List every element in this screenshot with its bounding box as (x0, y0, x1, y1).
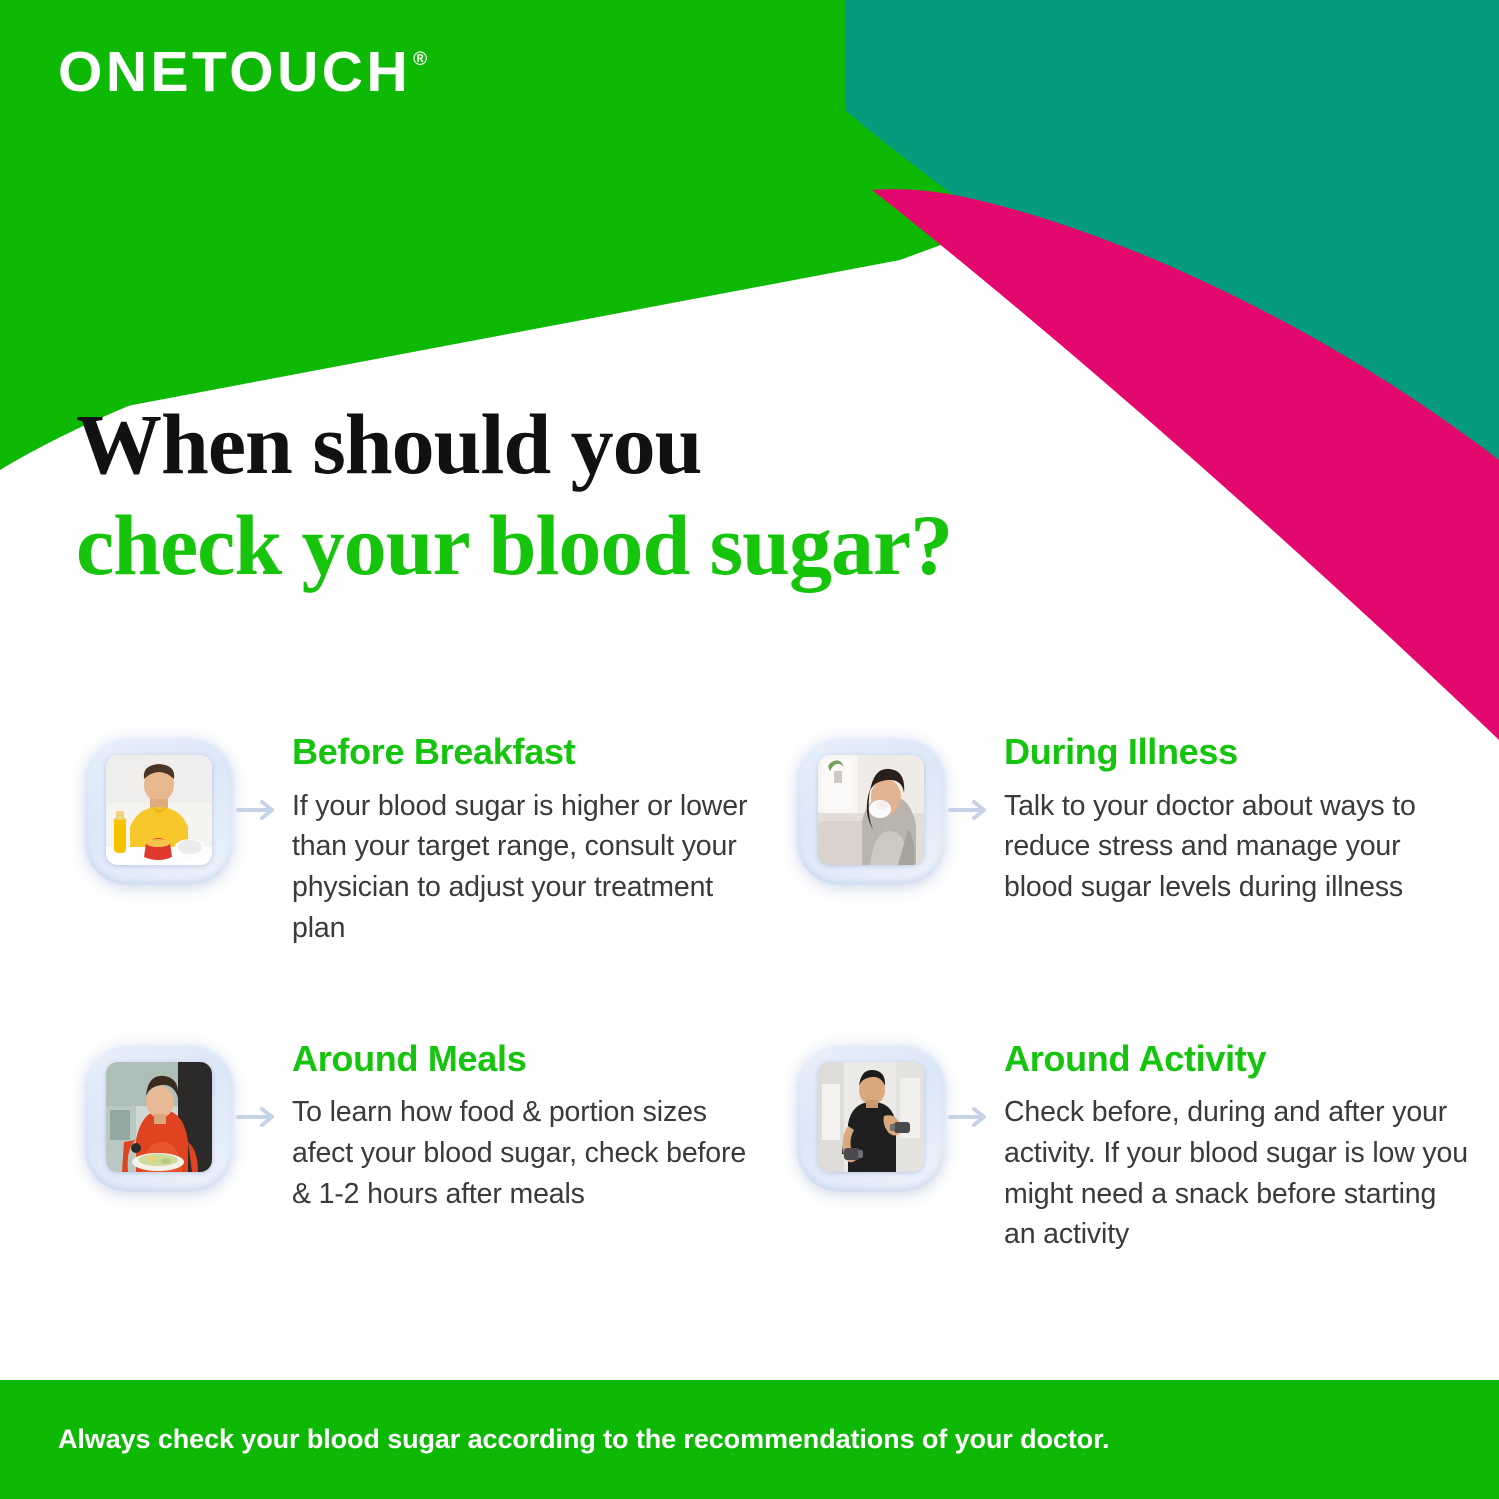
tip-card-around-activity: Around Activity Check before, during and… (796, 1037, 1496, 1256)
card-body: Before Breakfast If your blood sugar is … (286, 730, 784, 949)
arrow-right-icon (948, 797, 994, 823)
card-title: Around Activity (1004, 1039, 1496, 1079)
thumbnail-wrapper (84, 730, 286, 890)
page-title-line-1: When should you (76, 396, 952, 492)
card-body: During Illness Talk to your doctor about… (998, 730, 1496, 908)
brand-logo: ONETOUCH® (58, 44, 425, 101)
arrow-right-icon (236, 797, 282, 823)
tips-grid: Before Breakfast If your blood sugar is … (0, 730, 1499, 1255)
thumbnail-frame (796, 735, 946, 885)
card-text: Talk to your doctor about ways to reduce… (1004, 786, 1474, 908)
thumbnail-wrapper (84, 1037, 286, 1197)
illness-photo (818, 755, 924, 865)
tip-card-around-meals: Around Meals To learn how food & portion… (84, 1037, 784, 1256)
thumbnail-wrapper (796, 1037, 998, 1197)
footer-disclaimer: Always check your blood sugar according … (0, 1424, 1109, 1455)
arrow-right-icon (236, 1104, 282, 1130)
page-title: When should you check your blood sugar? (76, 396, 952, 593)
thumbnail-wrapper (796, 730, 998, 890)
arrow-right-icon (948, 1104, 994, 1130)
thumbnail-frame (796, 1042, 946, 1192)
card-text: To learn how food & portion sizes afect … (292, 1092, 762, 1214)
thumbnail-frame (84, 735, 234, 885)
card-text: Check before, during and after your acti… (1004, 1092, 1474, 1255)
brand-logo-text: ONETOUCH (58, 40, 411, 104)
meals-photo (106, 1062, 212, 1172)
tip-card-before-breakfast: Before Breakfast If your blood sugar is … (84, 730, 784, 949)
card-title: Around Meals (292, 1039, 784, 1079)
breakfast-photo (106, 755, 212, 865)
tip-card-during-illness: During Illness Talk to your doctor about… (796, 730, 1496, 949)
page-title-line-2: check your blood sugar? (76, 497, 952, 593)
card-body: Around Activity Check before, during and… (998, 1037, 1496, 1256)
card-text: If your blood sugar is higher or lower t… (292, 786, 762, 949)
registered-trademark-icon: ® (413, 49, 427, 70)
footer-bar: Always check your blood sugar according … (0, 1380, 1499, 1499)
thumbnail-frame (84, 1042, 234, 1192)
activity-photo (818, 1062, 924, 1172)
card-body: Around Meals To learn how food & portion… (286, 1037, 784, 1215)
card-title: During Illness (1004, 732, 1496, 772)
card-title: Before Breakfast (292, 732, 784, 772)
